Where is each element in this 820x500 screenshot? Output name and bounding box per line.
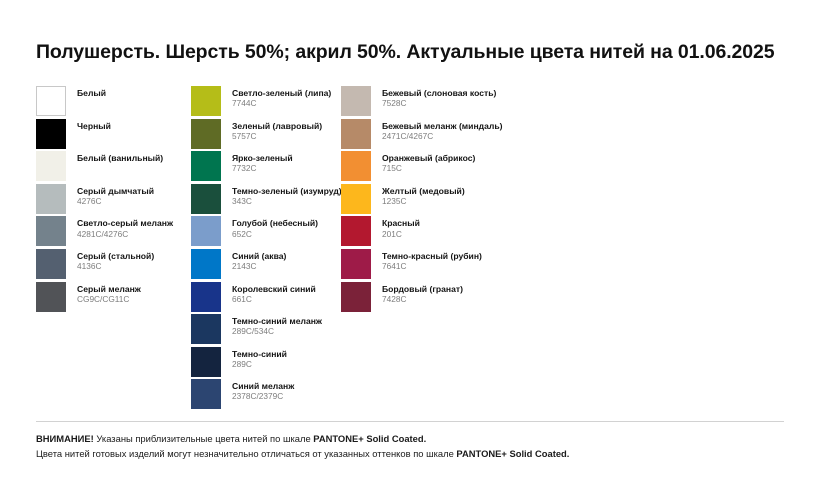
swatch-columns: БелыйЧерныйБелый (ванильный)Серый дымчат… xyxy=(36,86,796,412)
color-swatch xyxy=(36,151,66,181)
footer-divider xyxy=(36,421,784,422)
swatch-labels: Королевский синий661C xyxy=(232,282,316,305)
swatch-name: Бежевый (слоновая кость) xyxy=(382,88,496,98)
swatch-name: Светло-серый меланж xyxy=(77,218,173,228)
color-swatch xyxy=(191,379,221,409)
swatch-labels: Светло-зеленый (липа)7744C xyxy=(232,86,331,109)
swatch-row: Бордовый (гранат)7428C xyxy=(341,282,571,315)
swatch-name: Синий (аква) xyxy=(232,251,286,261)
swatch-row: Белый (ванильный) xyxy=(36,151,191,184)
swatch-labels: Ярко-зеленый7732C xyxy=(232,151,293,174)
swatch-name: Серый меланж xyxy=(77,284,141,294)
swatch-column-1: БелыйЧерныйБелый (ванильный)Серый дымчат… xyxy=(36,86,191,314)
swatch-name: Желтый (медовый) xyxy=(382,186,465,196)
swatch-labels: Темно-синий меланж289C/534C xyxy=(232,314,322,337)
swatch-name: Серый (стальной) xyxy=(77,251,154,261)
color-swatch xyxy=(191,249,221,279)
swatch-name: Темно-красный (рубин) xyxy=(382,251,482,261)
color-swatch xyxy=(36,119,66,149)
color-swatch xyxy=(191,86,221,116)
swatch-row: Бежевый (слоновая кость)7528C xyxy=(341,86,571,119)
swatch-labels: Желтый (медовый)1235C xyxy=(382,184,465,207)
color-swatch xyxy=(191,314,221,344)
swatch-row: Темно-красный (рубин)7641C xyxy=(341,249,571,282)
swatch-labels: Серый дымчатый4276C xyxy=(77,184,154,207)
color-swatch xyxy=(341,119,371,149)
swatch-labels: Бежевый (слоновая кость)7528C xyxy=(382,86,496,109)
footer-attention-label: ВНИМАНИЕ! xyxy=(36,433,94,444)
swatch-row: Синий (аква)2143C xyxy=(191,249,341,282)
swatch-name: Синий меланж xyxy=(232,381,294,391)
footer-line-1: ВНИМАНИЕ! Указаны приблизительные цвета … xyxy=(36,431,796,446)
swatch-pantone-code: 7732C xyxy=(232,164,293,174)
color-swatch xyxy=(36,86,66,116)
swatch-pantone-code: 1235C xyxy=(382,197,465,207)
swatch-labels: Темно-синий289C xyxy=(232,347,287,370)
swatch-pantone-code: 652C xyxy=(232,230,318,240)
swatch-pantone-code: 2143C xyxy=(232,262,286,272)
swatch-name: Ярко-зеленый xyxy=(232,153,293,163)
swatch-labels: Бордовый (гранат)7428C xyxy=(382,282,463,305)
color-swatch xyxy=(341,249,371,279)
swatch-labels: Белый (ванильный) xyxy=(77,151,163,163)
swatch-labels: Зеленый (лавровый)5757C xyxy=(232,119,322,142)
swatch-row: Ярко-зеленый7732C xyxy=(191,151,341,184)
swatch-pantone-code: 4281C/4276C xyxy=(77,230,173,240)
swatch-labels: Серый меланжCG9C/CG11C xyxy=(77,282,141,305)
color-swatch xyxy=(191,119,221,149)
swatch-row: Серый (стальной)4136C xyxy=(36,249,191,282)
swatch-labels: Белый xyxy=(77,86,106,98)
swatch-column-3: Бежевый (слоновая кость)7528CБежевый мел… xyxy=(341,86,571,314)
swatch-pantone-code: 7528C xyxy=(382,99,496,109)
swatch-name: Красный xyxy=(382,218,420,228)
swatch-labels: Светло-серый меланж4281C/4276C xyxy=(77,216,173,239)
footer-line-2: Цвета нитей готовых изделий могут незнач… xyxy=(36,446,796,461)
swatch-pantone-code: 7641C xyxy=(382,262,482,272)
swatch-row: Королевский синий661C xyxy=(191,282,341,315)
swatch-labels: Голубой (небесный)652C xyxy=(232,216,318,239)
swatch-pantone-code: 7428C xyxy=(382,295,463,305)
color-swatch xyxy=(341,184,371,214)
swatch-labels: Синий (аква)2143C xyxy=(232,249,286,272)
swatch-labels: Бежевый меланж (миндаль)2471C/4267C xyxy=(382,119,502,142)
swatch-row: Голубой (небесный)652C xyxy=(191,216,341,249)
swatch-name: Темно-зеленый (изумруд) xyxy=(232,186,342,196)
swatch-pantone-code: 661C xyxy=(232,295,316,305)
color-swatch xyxy=(341,282,371,312)
swatch-name: Голубой (небесный) xyxy=(232,218,318,228)
swatch-row: Зеленый (лавровый)5757C xyxy=(191,119,341,152)
swatch-labels: Красный201C xyxy=(382,216,420,239)
swatch-row: Темно-синий меланж289C/534C xyxy=(191,314,341,347)
swatch-row: Бежевый меланж (миндаль)2471C/4267C xyxy=(341,119,571,152)
swatch-name: Темно-синий меланж xyxy=(232,316,322,326)
swatch-row: Черный xyxy=(36,119,191,152)
swatch-pantone-code: 2471C/4267C xyxy=(382,132,502,142)
swatch-row: Светло-серый меланж4281C/4276C xyxy=(36,216,191,249)
color-swatch xyxy=(191,151,221,181)
swatch-labels: Оранжевый (абрикос)715C xyxy=(382,151,475,174)
footer-line-1-brand: PANTONE+ Solid Coated. xyxy=(313,433,426,444)
color-swatch xyxy=(341,86,371,116)
swatch-row: Белый xyxy=(36,86,191,119)
swatch-name: Черный xyxy=(77,121,111,131)
swatch-row: Серый дымчатый4276C xyxy=(36,184,191,217)
swatch-pantone-code: 4276C xyxy=(77,197,154,207)
swatch-pantone-code: CG9C/CG11C xyxy=(77,295,141,305)
swatch-row: Темно-зеленый (изумруд)343C xyxy=(191,184,341,217)
swatch-labels: Темно-красный (рубин)7641C xyxy=(382,249,482,272)
color-swatch xyxy=(36,184,66,214)
color-swatch xyxy=(191,347,221,377)
swatch-labels: Серый (стальной)4136C xyxy=(77,249,154,272)
swatch-labels: Черный xyxy=(77,119,111,131)
swatch-column-2: Светло-зеленый (липа)7744CЗеленый (лавро… xyxy=(191,86,341,412)
footer-note: ВНИМАНИЕ! Указаны приблизительные цвета … xyxy=(36,431,796,461)
footer-line-1-text: Указаны приблизительные цвета нитей по ш… xyxy=(94,433,314,444)
color-swatch xyxy=(191,282,221,312)
swatch-pantone-code: 2378C/2379C xyxy=(232,392,294,402)
color-swatch xyxy=(341,151,371,181)
swatch-name: Бежевый меланж (миндаль) xyxy=(382,121,502,131)
swatch-pantone-code: 289C xyxy=(232,360,287,370)
swatch-name: Белый xyxy=(77,88,106,98)
swatch-pantone-code: 201C xyxy=(382,230,420,240)
color-chart-page: Полушерсть. Шерсть 50%; акрил 50%. Актуа… xyxy=(0,0,820,500)
swatch-row: Оранжевый (абрикос)715C xyxy=(341,151,571,184)
swatch-row: Серый меланжCG9C/CG11C xyxy=(36,282,191,315)
swatch-row: Светло-зеленый (липа)7744C xyxy=(191,86,341,119)
color-swatch xyxy=(36,216,66,246)
swatch-name: Зеленый (лавровый) xyxy=(232,121,322,131)
color-swatch xyxy=(341,216,371,246)
swatch-pantone-code: 5757C xyxy=(232,132,322,142)
swatch-row: Синий меланж2378C/2379C xyxy=(191,379,341,412)
color-swatch xyxy=(191,184,221,214)
swatch-name: Королевский синий xyxy=(232,284,316,294)
color-swatch xyxy=(36,249,66,279)
page-title: Полушерсть. Шерсть 50%; акрил 50%. Актуа… xyxy=(36,41,775,64)
swatch-name: Серый дымчатый xyxy=(77,186,154,196)
swatch-name: Светло-зеленый (липа) xyxy=(232,88,331,98)
swatch-row: Желтый (медовый)1235C xyxy=(341,184,571,217)
footer-line-2-text: Цвета нитей готовых изделий могут незнач… xyxy=(36,448,456,459)
swatch-pantone-code: 715C xyxy=(382,164,475,174)
footer-line-2-brand: PANTONE+ Solid Coated. xyxy=(456,448,569,459)
swatch-name: Темно-синий xyxy=(232,349,287,359)
swatch-labels: Темно-зеленый (изумруд)343C xyxy=(232,184,342,207)
swatch-pantone-code: 289C/534C xyxy=(232,327,322,337)
swatch-name: Белый (ванильный) xyxy=(77,153,163,163)
swatch-name: Оранжевый (абрикос) xyxy=(382,153,475,163)
swatch-labels: Синий меланж2378C/2379C xyxy=(232,379,294,402)
swatch-pantone-code: 4136C xyxy=(77,262,154,272)
swatch-pantone-code: 343C xyxy=(232,197,342,207)
swatch-pantone-code: 7744C xyxy=(232,99,331,109)
color-swatch xyxy=(191,216,221,246)
swatch-row: Красный201C xyxy=(341,216,571,249)
swatch-row: Темно-синий289C xyxy=(191,347,341,380)
swatch-name: Бордовый (гранат) xyxy=(382,284,463,294)
color-swatch xyxy=(36,282,66,312)
